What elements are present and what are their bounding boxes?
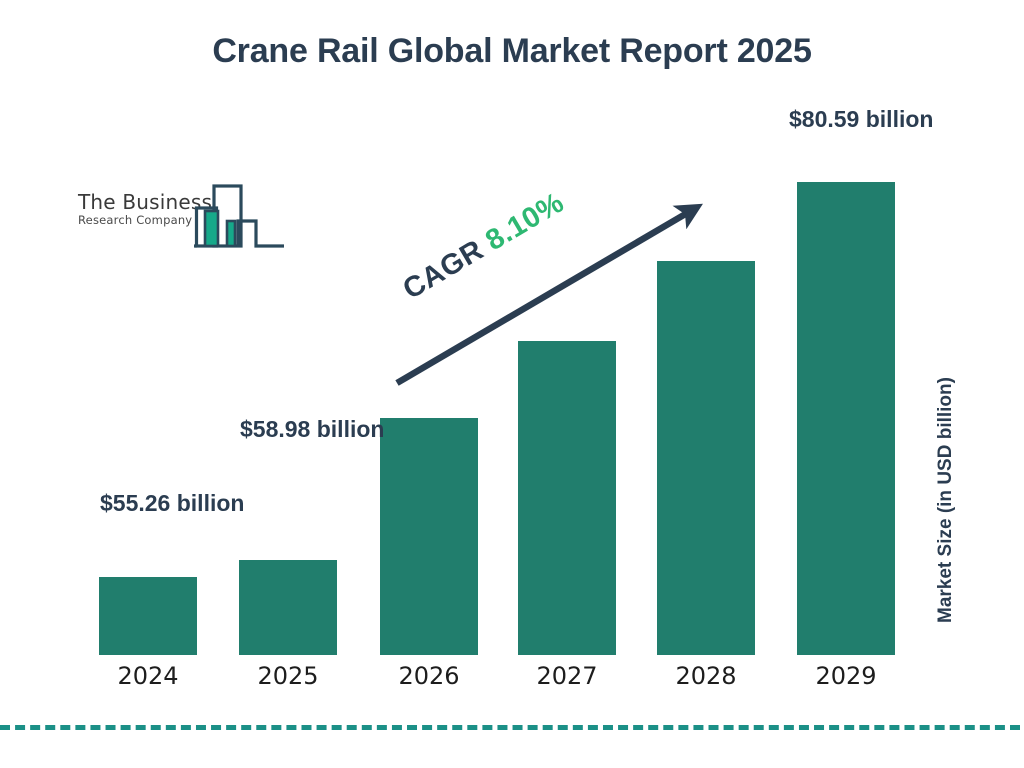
bar-2024 <box>99 577 197 655</box>
bar-2027 <box>518 341 616 655</box>
bar-value-2025-amount: $58.98 billion <box>240 415 384 444</box>
bar-value-2029-amount: $80.59 billion <box>789 105 903 134</box>
x-tick-2026: 2026 <box>380 662 478 690</box>
x-tick-2025: 2025 <box>239 662 337 690</box>
bar-2026 <box>380 418 478 655</box>
bar-2028 <box>657 261 755 655</box>
cagr-label-word: CAGR <box>398 234 490 306</box>
x-tick-2028: 2028 <box>657 662 755 690</box>
x-tick-2029: 2029 <box>797 662 895 690</box>
bar-value-2029: $80.59 billion <box>789 105 903 134</box>
x-tick-2027: 2027 <box>518 662 616 690</box>
x-tick-2024: 2024 <box>99 662 197 690</box>
y-axis-title: Market Size (in USD billion) <box>935 335 957 665</box>
bar-2025 <box>239 560 337 655</box>
bar-value-2025: $58.98 billion <box>240 415 384 444</box>
bar-value-2024: $55.26 billion <box>100 489 244 518</box>
cagr-label-value: 8.10% <box>480 187 569 258</box>
bar-value-2024-amount: $55.26 billion <box>100 489 244 518</box>
bar-2029 <box>797 182 895 655</box>
cagr-annotation: CAGR 8.10% <box>398 187 570 307</box>
bar-chart-plot-area: $55.26 billion $58.98 billion $80.59 bil… <box>0 0 1024 768</box>
footer-divider <box>0 725 1020 730</box>
chart-page: Crane Rail Global Market Report 2025 The… <box>0 0 1024 768</box>
